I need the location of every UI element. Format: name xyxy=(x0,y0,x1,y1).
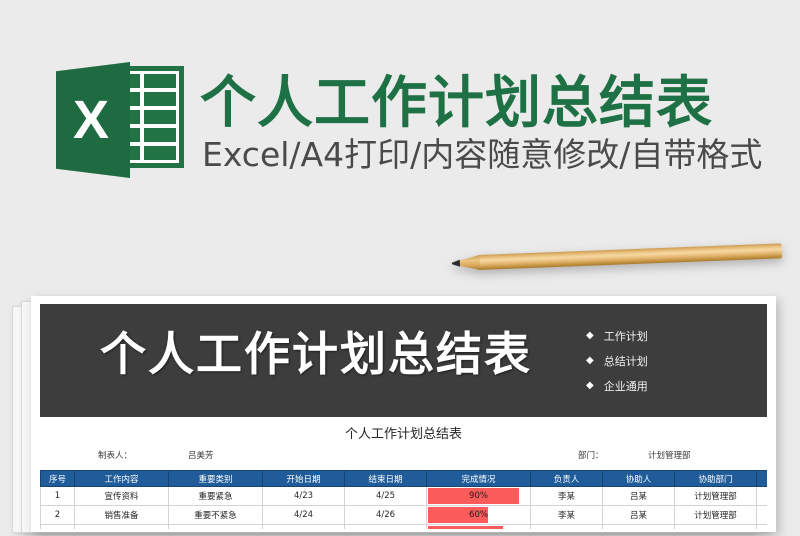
diamond-icon: ◆ xyxy=(586,356,594,366)
cell-task xyxy=(75,525,169,530)
logo-grid-cell xyxy=(144,74,176,88)
column-header-progress: 完成情况 xyxy=(427,471,531,487)
column-header-summary: 工作总结 xyxy=(757,471,768,487)
excel-logo-panel: X xyxy=(56,62,130,178)
table-row[interactable]: 2 销售准备 重要不紧急 4/24 4/26 60% 李某 吕某 xyxy=(41,506,768,525)
cell-owner xyxy=(531,525,603,530)
column-header-task: 工作内容 xyxy=(75,471,169,487)
bullet-item: ◆ 企业通用 xyxy=(586,373,756,398)
cell-summary xyxy=(757,506,768,525)
department-label: 部门： xyxy=(578,449,604,461)
logo-grid-cell xyxy=(144,146,176,160)
department-value: 计划管理部 xyxy=(648,449,691,461)
cell-helper: 吕某 xyxy=(603,506,675,525)
table-row[interactable] xyxy=(41,525,768,530)
cell-progress xyxy=(427,525,531,530)
excel-logo-letter: X xyxy=(73,93,109,147)
cell-helper xyxy=(603,525,675,530)
cell-dept: 计划管理部 xyxy=(675,506,757,525)
progress-value: 90% xyxy=(469,491,488,501)
cell-dept: 计划管理部 xyxy=(675,487,757,506)
cell-seq: 1 xyxy=(41,487,75,506)
logo-grid-cell xyxy=(144,92,176,106)
spreadsheet-title: 个人工作计划总结表 xyxy=(40,423,767,442)
cell-task: 宣传资料 xyxy=(75,487,169,506)
spreadsheet-preview: 个人工作计划总结表 制表人： 吕美芳 部门： 计划管理部 序号 工作内容 xyxy=(40,417,767,529)
cell-end xyxy=(345,525,427,530)
diamond-icon: ◆ xyxy=(586,381,594,391)
bullet-label: 企业通用 xyxy=(604,378,648,394)
bullet-label: 工作计划 xyxy=(604,328,648,344)
cell-type: 重要紧急 xyxy=(169,487,263,506)
column-header-start: 开始日期 xyxy=(263,471,345,487)
cell-owner: 李某 xyxy=(531,506,603,525)
pencil-body xyxy=(478,243,782,270)
spreadsheet-grid: 序号 工作内容 重要类别 开始日期 结束日期 完成情况 负责人 协助人 协助部门… xyxy=(40,470,767,529)
diamond-icon: ◆ xyxy=(586,331,594,341)
bullet-label: 总结计划 xyxy=(604,353,648,369)
cell-summary xyxy=(757,487,768,506)
cell-seq: 2 xyxy=(41,506,75,525)
column-header-helper: 协助人 xyxy=(603,471,675,487)
column-header-seq: 序号 xyxy=(41,471,75,487)
cell-start xyxy=(263,525,345,530)
document-stack: 个人工作计划总结表 ◆ 工作计划 ◆ 总结计划 ◆ 企业通用 个人工作计划总结表 xyxy=(12,296,772,536)
document-card: 个人工作计划总结表 ◆ 工作计划 ◆ 总结计划 ◆ 企业通用 个人工作计划总结表 xyxy=(31,296,776,532)
cell-dept xyxy=(675,525,757,530)
cell-seq xyxy=(41,525,75,530)
progress-value: 60% xyxy=(469,510,488,520)
cell-summary xyxy=(757,525,768,530)
logo-grid-cell xyxy=(144,128,176,142)
cell-owner: 李某 xyxy=(531,487,603,506)
promo-subtitle: Excel/A4打印/内容随意修改/自带格式 xyxy=(202,128,762,176)
cell-task: 销售准备 xyxy=(75,506,169,525)
bullet-item: ◆ 工作计划 xyxy=(586,323,756,348)
cell-progress: 90% xyxy=(427,487,531,506)
cell-end: 4/25 xyxy=(345,487,427,506)
document-banner: 个人工作计划总结表 ◆ 工作计划 ◆ 总结计划 ◆ 企业通用 xyxy=(40,304,767,417)
column-header-end: 结束日期 xyxy=(345,471,427,487)
table-header-row: 序号 工作内容 重要类别 开始日期 结束日期 完成情况 负责人 协助人 协助部门… xyxy=(41,471,768,487)
column-header-dept: 协助部门 xyxy=(675,471,757,487)
promo-title: 个人工作计划总结表 xyxy=(200,58,713,139)
column-header-owner: 负责人 xyxy=(531,471,603,487)
logo-grid-cell xyxy=(144,110,176,124)
cell-start: 4/23 xyxy=(263,487,345,506)
document-banner-title: 个人工作计划总结表 xyxy=(100,318,532,384)
pencil-lead xyxy=(452,260,460,267)
pencil-illustration xyxy=(452,239,783,278)
cell-progress: 60% xyxy=(427,506,531,525)
cell-end: 4/26 xyxy=(345,506,427,525)
table-row[interactable]: 1 宣传资料 重要紧急 4/23 4/25 90% 李某 吕某 xyxy=(41,487,768,506)
cell-helper: 吕某 xyxy=(603,487,675,506)
cell-start: 4/24 xyxy=(263,506,345,525)
maker-value: 吕美芳 xyxy=(188,449,214,461)
cell-type: 重要不紧急 xyxy=(169,506,263,525)
progress-databar xyxy=(428,526,503,529)
maker-label: 制表人： xyxy=(98,449,132,461)
cell-type xyxy=(169,525,263,530)
excel-logo: X xyxy=(56,62,186,178)
spreadsheet-meta-row: 制表人： 吕美芳 部门： 计划管理部 xyxy=(40,449,767,466)
column-header-type: 重要类别 xyxy=(169,471,263,487)
document-bullet-list: ◆ 工作计划 ◆ 总结计划 ◆ 企业通用 xyxy=(586,323,756,398)
promo-header: X 个人工作计划总结表 Excel/A4打印/内容随意修改/自带格式 xyxy=(0,48,800,188)
bullet-item: ◆ 总结计划 xyxy=(586,348,756,373)
